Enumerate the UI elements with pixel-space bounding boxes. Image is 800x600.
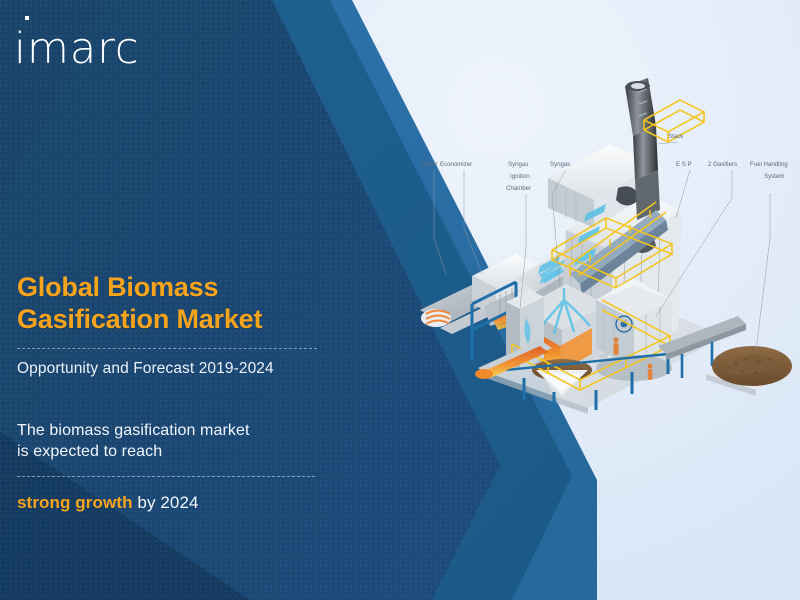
imarc-logo[interactable]: imarc (14, 12, 140, 71)
worker-figure-2 (648, 364, 653, 380)
page-subtitle: Opportunity and Forecast 2019-2024 (17, 360, 347, 378)
page-title: Global Biomass Gasification Market (17, 272, 347, 336)
title-divider (17, 348, 317, 349)
logo-dot-icon (25, 16, 29, 20)
statement-divider (17, 476, 315, 477)
biomass-pile (706, 346, 796, 396)
page-title-line-1: Global Biomass (17, 272, 347, 304)
market-statement: The biomass gasification market is expec… (17, 420, 347, 463)
forecast-highlight: strong growth (17, 493, 133, 512)
callout-label-syngas-ignition-chamber-l1: Syngas (508, 161, 528, 168)
callout-label-fuel-handling-system-l1: Fuel Handling (750, 161, 788, 168)
worker-figure-1 (613, 337, 618, 355)
forecast-rest: by 2024 (133, 493, 199, 512)
callout-label-syngas: Syngas (550, 161, 570, 168)
callout-label-fuel-handling-system-l2: System (764, 173, 784, 180)
gasification-plant-illustration: Boiler Economizer Syngas Ignition Chambe… (420, 78, 800, 418)
logo-wordmark: imarc (14, 28, 140, 71)
report-cover-canvas: imarc Global Biomass Gasification Market… (0, 0, 800, 600)
forecast-tagline: strong growth by 2024 (17, 493, 347, 513)
callout-label-gasifiers: 2 Gasifiers (708, 161, 737, 168)
callout-label-esp: E S P (676, 161, 692, 168)
callout-label-stack: Stack (668, 133, 684, 140)
callout-label-boiler: Boiler (422, 161, 438, 168)
gasifier-vessel-2 (596, 278, 672, 381)
callout-label-economizer: Economizer (440, 161, 472, 168)
callout-label-syngas-ignition-chamber-l3: Chamber (506, 185, 531, 192)
page-title-line-2: Gasification Market (17, 304, 347, 336)
market-statement-line-1: The biomass gasification market (17, 420, 347, 441)
callout-label-syngas-ignition-chamber-l2: Ignition (510, 173, 530, 180)
market-statement-line-2: is expected to reach (17, 441, 347, 462)
report-text-block: Global Biomass Gasification Market Oppor… (17, 272, 347, 513)
